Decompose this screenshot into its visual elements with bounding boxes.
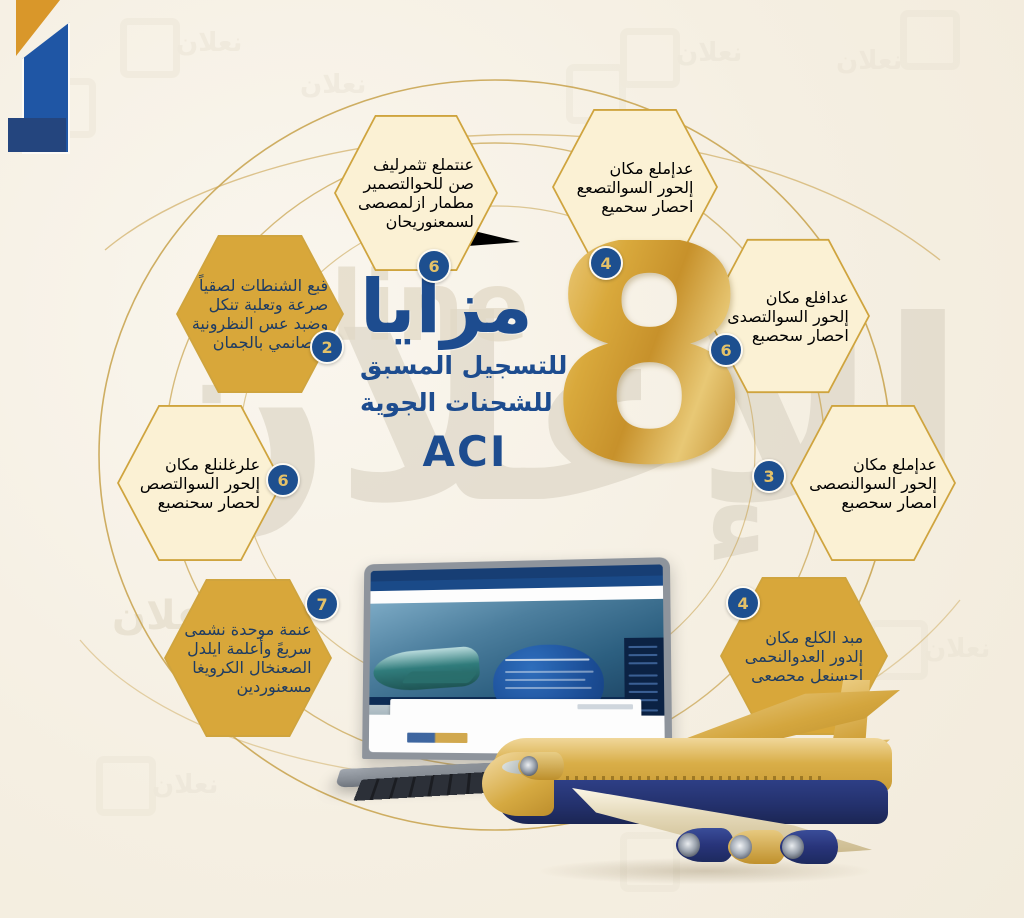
main-title: مزايا — [360, 272, 590, 342]
watermark-box — [620, 28, 680, 88]
hex-body: عنتملع تثمرليف صن للحوالتصمير مطمار ازلم… — [336, 112, 496, 274]
watermark-tile: نعلان — [676, 38, 742, 68]
hex-node-1[interactable]: قبع الشنطات لصقياً صرعة وتعلبة تنكل وضبد… — [178, 232, 342, 396]
watermark-tile: نعلان — [152, 770, 218, 800]
hex-node-5[interactable]: عدإملع مكان إلحور السوالنصصى امصار سحصبع — [792, 402, 954, 564]
badge-number-4-top[interactable]: 4 — [589, 246, 623, 280]
watermark-box — [120, 18, 180, 78]
hex-body: قبع الشنطات لصقياً صرعة وتعلبة تنكل وضبد… — [178, 232, 342, 396]
badge-number-3[interactable]: 3 — [752, 459, 786, 493]
badge-number-6-left[interactable]: 6 — [266, 463, 300, 497]
brand-logo — [8, 0, 74, 152]
watermark-tile: نعلان — [836, 46, 902, 76]
hero-airplane-photo — [372, 646, 480, 693]
airplane-engine-2 — [728, 830, 786, 864]
watermark-box — [900, 10, 960, 70]
badge-number-6-top[interactable]: 6 — [417, 249, 451, 283]
centre-title-block: مزايا للتسجيل المسبق للشحنات الجوية ACI — [360, 272, 590, 477]
watermark-tile: نعلان — [176, 28, 242, 58]
hex-text: عنتملع تثمرليف صن للحوالتصمير مطمار ازلم… — [358, 155, 474, 231]
hex-node-8[interactable]: علرغلنلع مكان إلحور السوالتصص لحصار سحنص… — [119, 402, 281, 564]
hex-body: علرغلنلع مكان إلحور السوالتصص لحصار سحنص… — [119, 402, 281, 564]
badge-number-4-bottom[interactable]: 4 — [726, 586, 760, 620]
subtitle-line-2: للشحنات الجوية — [360, 385, 590, 421]
watermark-tile: نعلان — [924, 634, 990, 664]
hex-text: قبع الشنطات لصقياً صرعة وتعلبة تنكل وضبد… — [192, 276, 328, 352]
watermark-tile: نعلان — [300, 70, 366, 100]
3d-airplane — [480, 680, 950, 910]
badge-number-7[interactable]: 7 — [305, 587, 339, 621]
engine-intake-icon — [678, 833, 700, 857]
watermark-box — [96, 756, 156, 816]
airplane-window-row — [566, 776, 826, 780]
site-footer-logo — [407, 733, 467, 743]
acronym-label: ACI — [360, 427, 590, 477]
hex-node-2[interactable]: عنتملع تثمرليف صن للحوالتصمير مطمار ازلم… — [336, 112, 496, 274]
badge-number-2[interactable]: 2 — [310, 330, 344, 364]
logo-blue-base-icon — [8, 118, 66, 152]
hex-text: عدإملع مكان إلحور السوالنصصى امصار سحصبع — [809, 455, 937, 512]
hex-text: علرغلنلع مكان إلحور السوالتصص لحصار سحنص… — [140, 455, 260, 512]
airplane-engine-nose-side — [518, 752, 564, 780]
engine-intake-icon — [520, 756, 538, 776]
hex-text: مبد الكلع مكان إلدور العدوالنحمى احسنعل … — [745, 628, 863, 685]
hex-text: عنمة موحدة نشمى سريعً وأعلمة ايلدل الصعن… — [184, 620, 311, 696]
hero-airplane-wing — [401, 671, 478, 683]
airplane-engine-3 — [780, 830, 838, 864]
engine-intake-icon — [730, 835, 752, 859]
infographic-canvas: نعلان نعلان نعلان نعلان نعلان نعلان الإع… — [0, 0, 1024, 918]
airplane-engine-1 — [676, 828, 734, 862]
hex-body: عدإملع مكان إلحور السوالنصصى امصار سحصبع — [792, 402, 954, 564]
engine-intake-icon — [782, 835, 804, 859]
subtitle-line-1: للتسجيل المسبق — [360, 348, 590, 384]
badge-number-6-right[interactable]: 6 — [709, 333, 743, 367]
